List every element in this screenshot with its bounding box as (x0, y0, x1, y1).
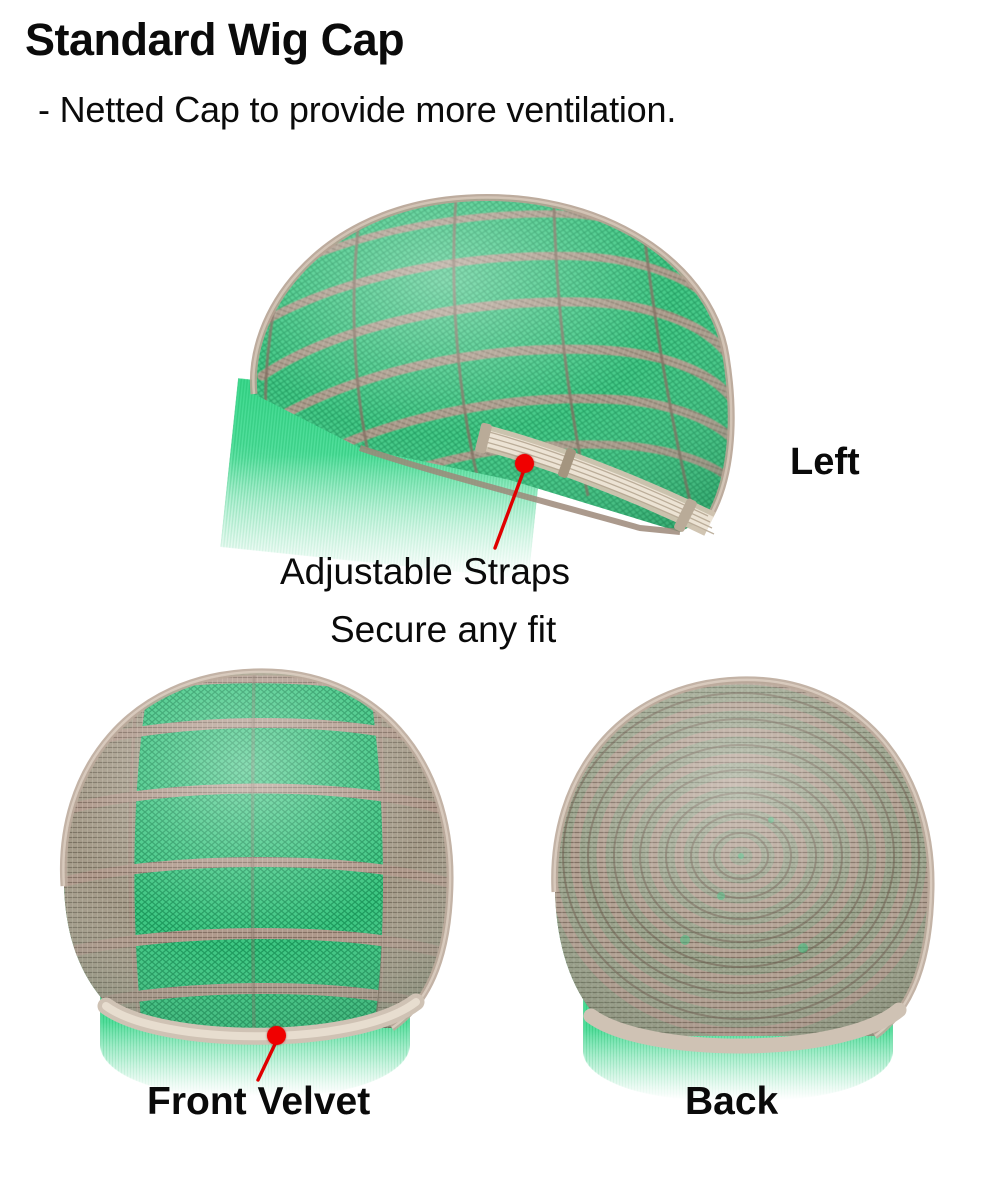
page-title: Standard Wig Cap (25, 14, 404, 66)
wig-cap-left-view-image (210, 180, 770, 560)
callout-pin-straps (515, 454, 534, 473)
view-label-back: Back (685, 1080, 778, 1124)
wig-cap-front-view-image (40, 650, 490, 1070)
wig-cap-left-dome-svg (210, 180, 770, 560)
page-subtitle: - Netted Cap to provide more ventilation… (38, 88, 676, 132)
wig-cap-back-dome-svg (535, 660, 955, 1070)
infographic-canvas: Standard Wig Cap - Netted Cap to provide… (0, 0, 1000, 1194)
callout-text-straps-line2: Secure any fit (330, 608, 556, 652)
callout-pin-velvet (267, 1026, 286, 1045)
view-label-left: Left (790, 440, 860, 484)
wig-cap-back-view-image (535, 660, 955, 1070)
view-label-front: Front Velvet (147, 1080, 370, 1124)
callout-text-straps-line1: Adjustable Straps (280, 550, 570, 594)
wig-cap-front-dome-svg (40, 650, 490, 1070)
